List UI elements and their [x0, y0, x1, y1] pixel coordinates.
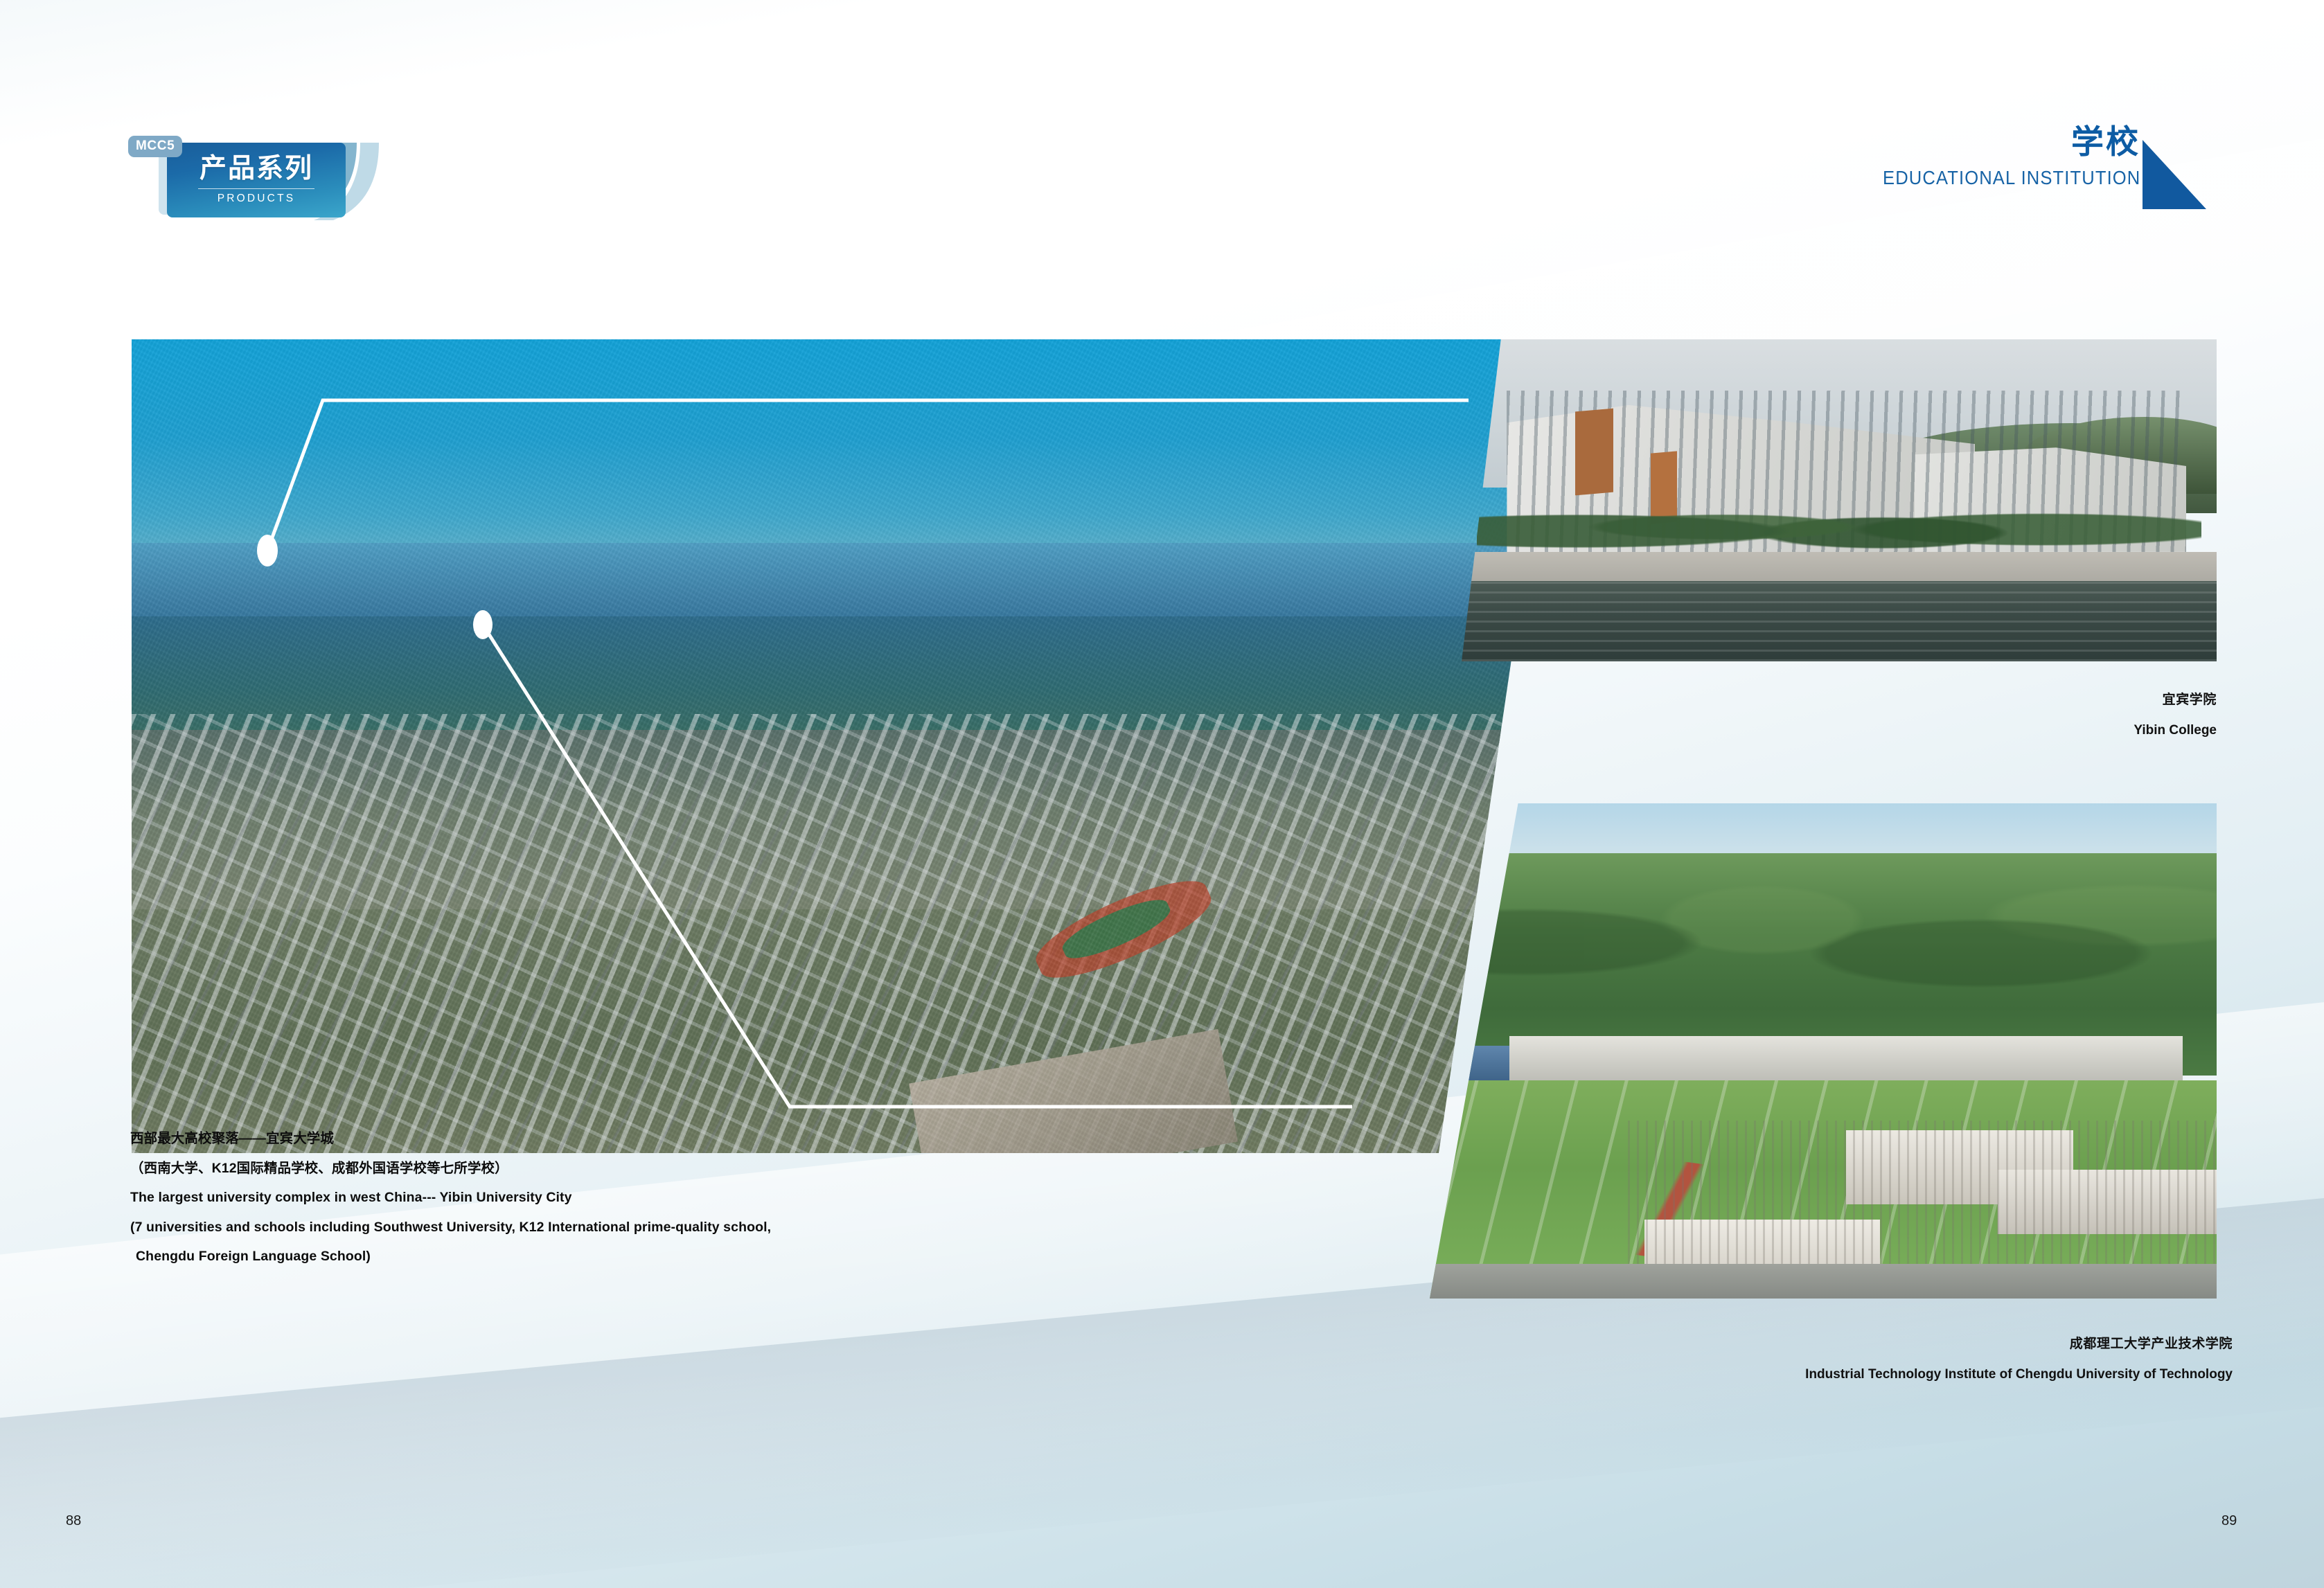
caption-line-4: (7 universities and schools including So… [130, 1221, 1031, 1235]
caption-yibin-college: 宜宾学院 Yibin College [2134, 689, 2217, 738]
brochure-page: 产品系列 PRODUCTS MCC5 学校 EDUCATIONAL INSTIT… [0, 0, 2324, 1588]
banner-title-en: PRODUCTS [218, 193, 296, 205]
photo-canvas [1375, 803, 2217, 1299]
section-title-cn: 学校 [1863, 125, 2140, 159]
banner-divider [198, 188, 314, 189]
caption-cdut-en: Industrial Technology Institute of Cheng… [1805, 1367, 2233, 1382]
caption-line-5: Chengdu Foreign Language School) [130, 1250, 1031, 1264]
main-photo-caption: 西部最大高校聚落——宜宾大学城 （西南大学、K12国际精品学校、成都外国语学校等… [130, 1132, 1031, 1280]
background-swoosh-band [0, 0, 2324, 137]
caption-line-3: The largest university complex in west C… [130, 1191, 1031, 1205]
photo-yibin-university-city [132, 339, 1559, 1153]
photo-chengdu-university-of-technology [1375, 803, 2217, 1299]
caption-yibin-en: Yibin College [2134, 723, 2217, 738]
banner-title-cn: 产品系列 [199, 155, 313, 182]
caption-chengdu-university-of-technology: 成都理工大学产业技术学院 Industrial Technology Insti… [1805, 1333, 2233, 1382]
photo-canvas [132, 339, 1559, 1153]
banner-plate: 产品系列 PRODUCTS [167, 143, 346, 217]
caption-yibin-cn: 宜宾学院 [2134, 689, 2217, 708]
photo-yibin-college [1462, 339, 2217, 661]
triangle-accent-icon [2143, 140, 2206, 209]
photo-canvas [1462, 339, 2217, 661]
page-number-right: 89 [2221, 1513, 2237, 1529]
caption-line-1: 西部最大高校聚落——宜宾大学城 [130, 1132, 1031, 1146]
caption-line-2: （西南大学、K12国际精品学校、成都外国语学校等七所学校） [130, 1162, 1031, 1176]
section-title-en: EDUCATIONAL INSTITUTION [1883, 167, 2140, 189]
mcc5-badge: MCC5 [128, 136, 182, 157]
caption-cdut-cn: 成都理工大学产业技术学院 [1805, 1333, 2233, 1352]
page-number-left: 88 [66, 1513, 81, 1529]
section-header: 学校 EDUCATIONAL INSTITUTION [1863, 125, 2140, 189]
products-banner: 产品系列 PRODUCTS MCC5 [128, 136, 405, 226]
